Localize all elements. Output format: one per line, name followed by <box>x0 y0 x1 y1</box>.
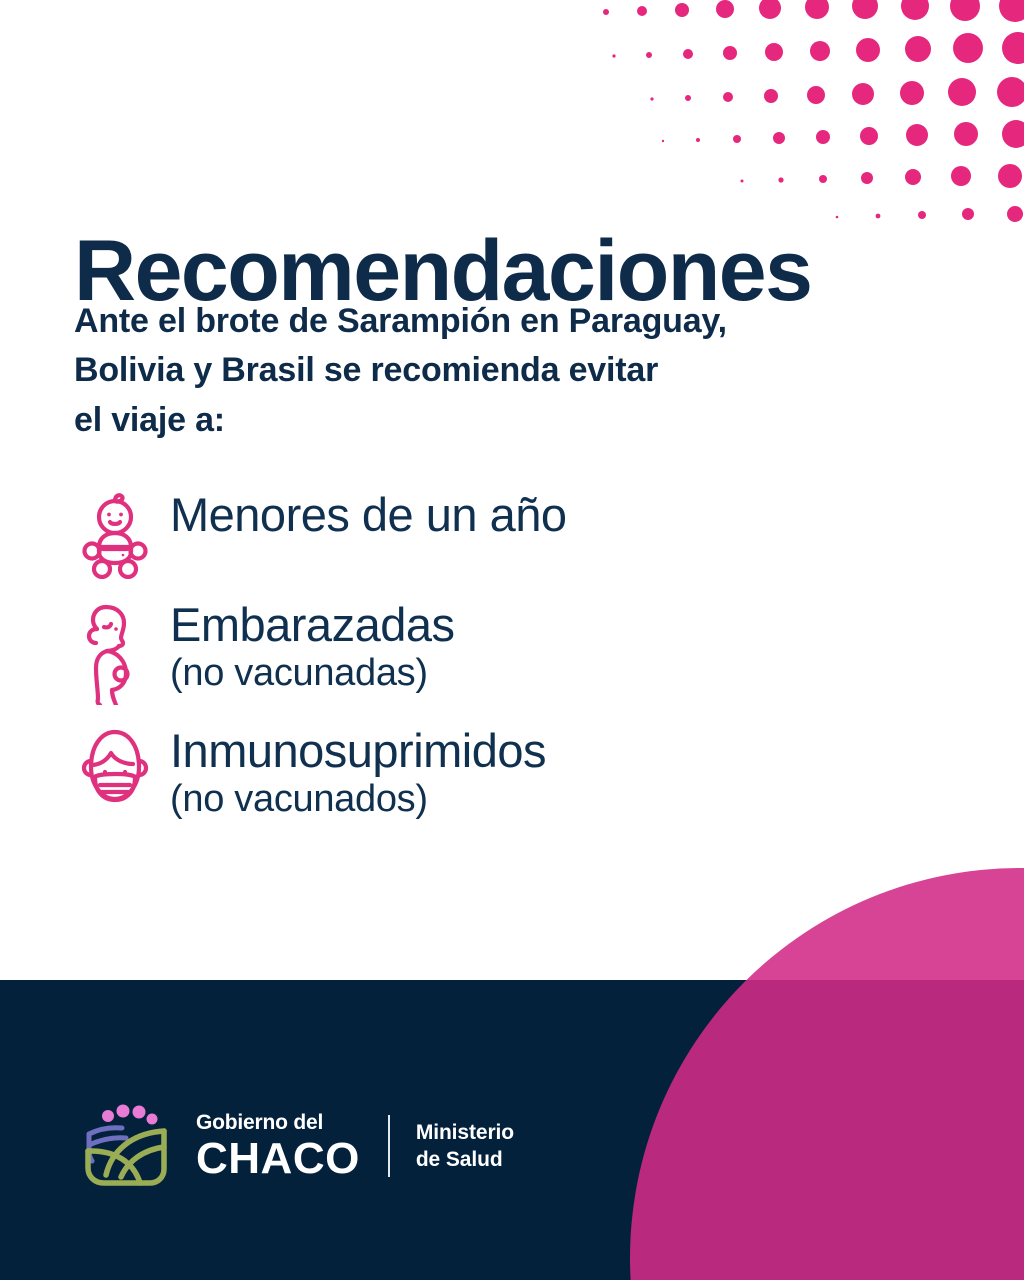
halftone-dot-pattern <box>560 0 1024 230</box>
subtitle-line-1: Ante el brote de Sarampión en Paraguay, <box>74 297 727 346</box>
subtitle-line-3: el viaje a: <box>74 396 727 445</box>
subtitle: Ante el brote de Sarampión en Paraguay, … <box>74 297 727 445</box>
baby-icon <box>74 487 156 579</box>
chaco-wordmark: CHACO <box>196 1137 360 1181</box>
magenta-corner-circle <box>630 868 1024 1280</box>
ministry-block: Ministerio de Salud <box>416 1119 514 1174</box>
risk-label: Menores de un año <box>170 489 567 542</box>
poster-canvas: Recomendaciones Ante el brote de Sarampi… <box>0 0 1024 1280</box>
masked-face-icon <box>74 723 156 815</box>
risk-text: Embarazadas (no vacunadas) <box>156 597 455 695</box>
risk-text: Inmunosuprimidos (no vacunados) <box>156 723 546 821</box>
risk-group-list: Menores de un año <box>74 487 974 839</box>
risk-text: Menores de un año <box>156 487 567 542</box>
risk-note: (no vacunadas) <box>170 652 455 696</box>
brand-block: Gobierno del CHACO <box>196 1111 360 1180</box>
logo-divider <box>388 1115 390 1177</box>
subtitle-line-2: Bolivia y Brasil se recomienda evitar <box>74 346 727 395</box>
ministry-line-1: Ministerio <box>416 1119 514 1146</box>
list-item: Inmunosuprimidos (no vacunados) <box>74 723 974 821</box>
list-item: Menores de un año <box>74 487 974 579</box>
gobierno-label: Gobierno del <box>196 1111 360 1134</box>
risk-label: Inmunosuprimidos <box>170 725 546 778</box>
footer-logo-lockup: Gobierno del CHACO Ministerio de Salud <box>78 1098 514 1194</box>
risk-note: (no vacunados) <box>170 778 546 822</box>
ministry-line-2: de Salud <box>416 1146 514 1173</box>
risk-label: Embarazadas <box>170 599 455 652</box>
chaco-emblem-icon <box>78 1098 174 1194</box>
pregnant-woman-icon <box>74 597 156 705</box>
list-item: Embarazadas (no vacunadas) <box>74 597 974 705</box>
